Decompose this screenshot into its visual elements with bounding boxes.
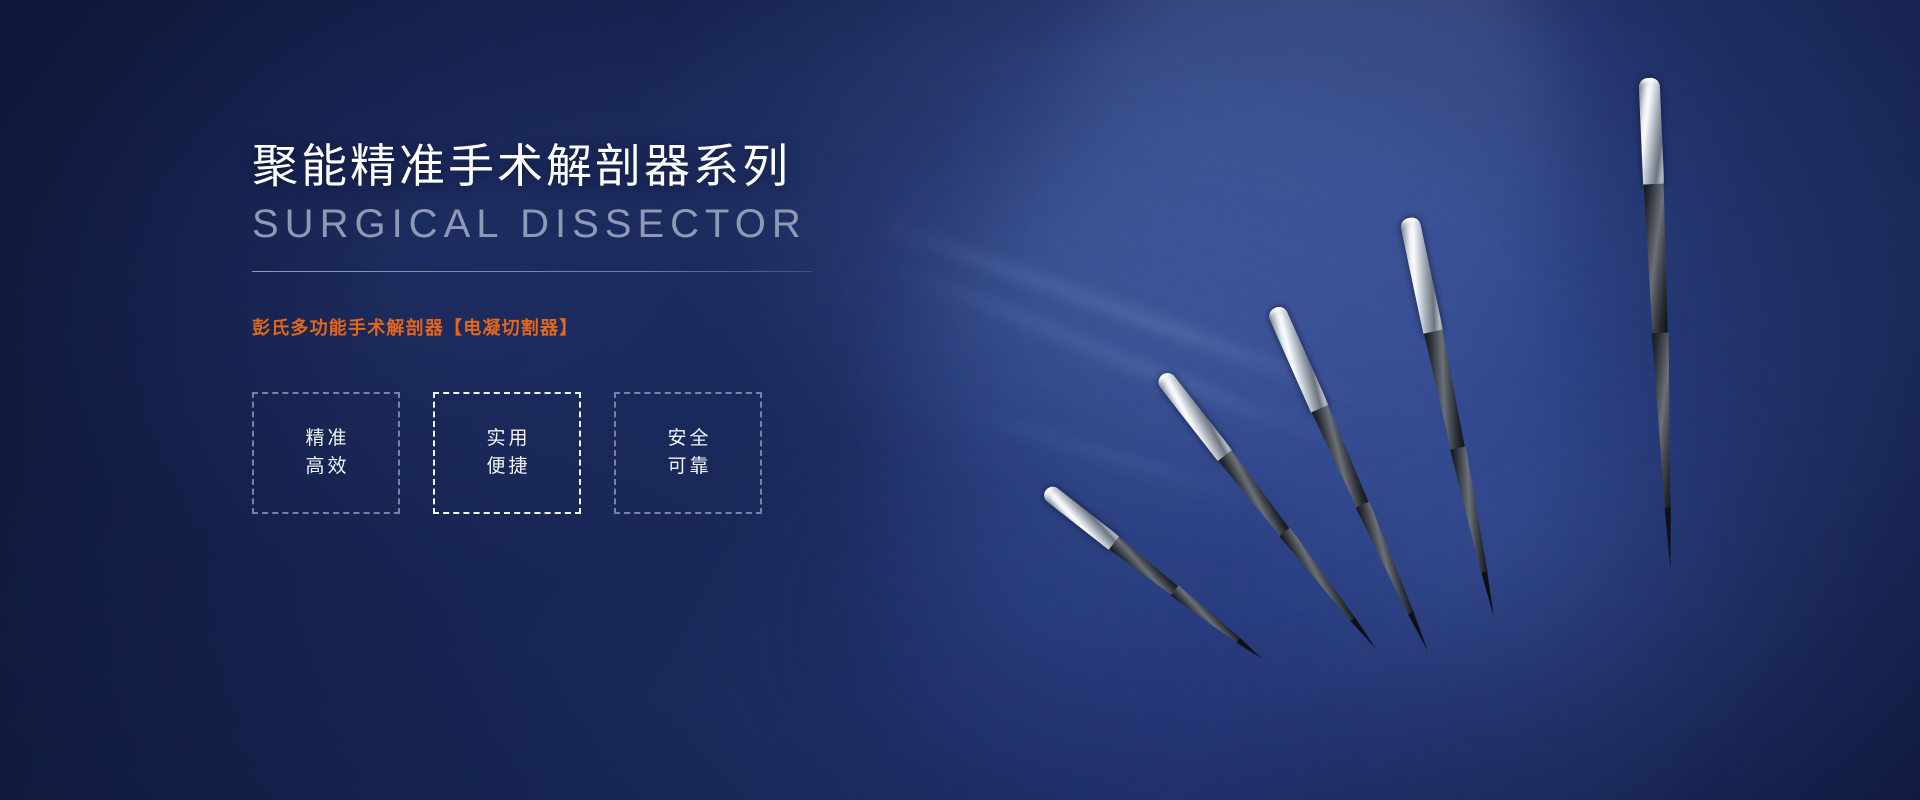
feature-box-safety[interactable]: 安全 可靠 <box>614 392 762 514</box>
feature-label-line1: 精准 <box>302 429 349 448</box>
feature-label-line2: 高效 <box>302 457 349 476</box>
instrument-shaft-lower <box>1356 501 1419 617</box>
instrument-tip <box>1408 612 1431 653</box>
instrument-handle-chrome <box>1399 216 1443 336</box>
instrument-shaft-upper <box>1218 450 1292 538</box>
instrument-shaft-upper <box>1109 537 1180 598</box>
instrument-handle-chrome <box>1639 78 1665 187</box>
instrument-tip <box>1665 507 1674 569</box>
banner-copy: 聚能精准手术解剖器系列 SURGICAL DISSECTOR 彭氏多功能手术解剖… <box>252 140 872 514</box>
banner-title-chinese: 聚能精准手术解剖器系列 <box>252 140 872 193</box>
instrument-shaft-upper <box>1644 183 1671 334</box>
banner-title-english: SURGICAL DISSECTOR <box>252 201 872 248</box>
instrument-shaft-upper <box>1424 329 1468 450</box>
instrument-shaft-lower <box>1170 585 1243 646</box>
instrument-tip <box>1236 638 1263 661</box>
instrument-shaft-lower <box>1279 528 1359 625</box>
product-name-label: 彭氏多功能手术解剖器【电凝切割器】 <box>252 314 872 340</box>
feature-box-group: 精准 高效 实用 便捷 安全 可靠 <box>252 392 872 514</box>
instrument-handle-chrome <box>1041 483 1121 551</box>
instrument-shaft-lower <box>1652 332 1677 509</box>
title-divider <box>252 271 812 272</box>
instrument-handle-chrome <box>1266 304 1329 414</box>
instrument-tip <box>1481 571 1496 617</box>
feature-label-line1: 实用 <box>483 429 530 448</box>
feature-box-practical[interactable]: 实用 便捷 <box>433 392 581 514</box>
feature-label-line1: 安全 <box>664 429 711 448</box>
feature-label-line2: 可靠 <box>664 457 711 476</box>
feature-box-precision[interactable]: 精准 高效 <box>252 392 400 514</box>
feature-label-line2: 便捷 <box>483 457 530 476</box>
product-hero-banner: 聚能精准手术解剖器系列 SURGICAL DISSECTOR 彭氏多功能手术解剖… <box>0 0 1920 800</box>
instrument-tip <box>1350 617 1378 651</box>
instrument-shaft-lower <box>1450 446 1492 575</box>
instrument-handle-chrome <box>1155 369 1233 462</box>
instrument-shaft-upper <box>1312 405 1372 509</box>
